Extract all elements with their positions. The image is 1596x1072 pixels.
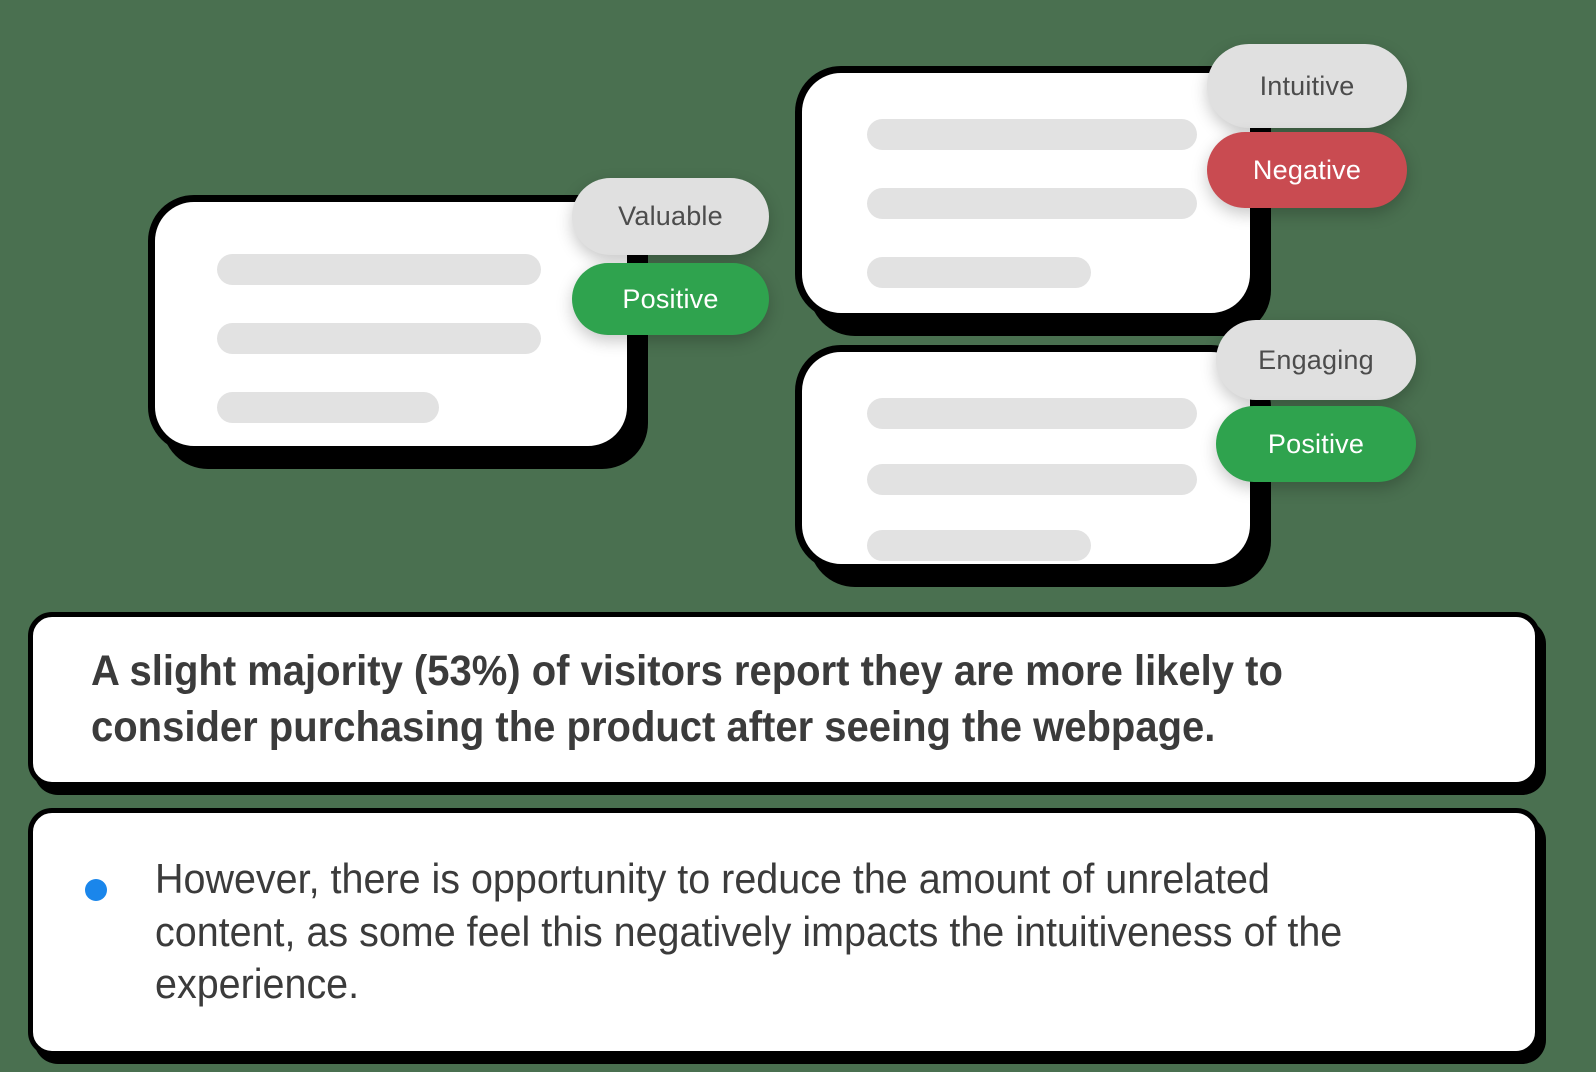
review-placeholder-lines	[802, 73, 1250, 313]
bullet-dot-icon	[85, 879, 107, 901]
review-placeholder-lines	[802, 352, 1250, 564]
sentiment-pill-positive-engaging[interactable]: Positive	[1216, 406, 1416, 482]
review-placeholder-lines	[155, 202, 627, 446]
placeholder-bar	[217, 323, 541, 354]
sentiment-pill-positive-valuable[interactable]: Positive	[572, 263, 769, 335]
placeholder-bar	[867, 398, 1197, 429]
placeholder-bar	[867, 257, 1091, 288]
placeholder-bar	[217, 254, 541, 285]
review-card-engaging	[795, 345, 1257, 571]
bullet-row: However, there is opportunity to reduce …	[85, 853, 1483, 1012]
headline-callout-box: A slight majority (53%) of visitors repo…	[28, 612, 1540, 787]
attribute-pill-engaging[interactable]: Engaging	[1216, 320, 1416, 400]
bullet-text: However, there is opportunity to reduce …	[155, 853, 1403, 1012]
sentiment-pill-negative-intuitive[interactable]: Negative	[1207, 132, 1407, 208]
bullet-callout-box: However, there is opportunity to reduce …	[28, 808, 1540, 1056]
attribute-pill-intuitive[interactable]: Intuitive	[1207, 44, 1407, 128]
placeholder-bar	[217, 392, 439, 423]
placeholder-bar	[867, 188, 1197, 219]
slide-canvas: Valuable Positive Intuitive Negative Eng…	[0, 0, 1596, 1072]
review-card-valuable	[148, 195, 634, 453]
attribute-pill-valuable[interactable]: Valuable	[572, 178, 769, 255]
placeholder-bar	[867, 464, 1197, 495]
placeholder-bar	[867, 530, 1091, 561]
headline-text: A slight majority (53%) of visitors repo…	[91, 644, 1380, 754]
review-card-intuitive	[795, 66, 1257, 320]
placeholder-bar	[867, 119, 1197, 150]
